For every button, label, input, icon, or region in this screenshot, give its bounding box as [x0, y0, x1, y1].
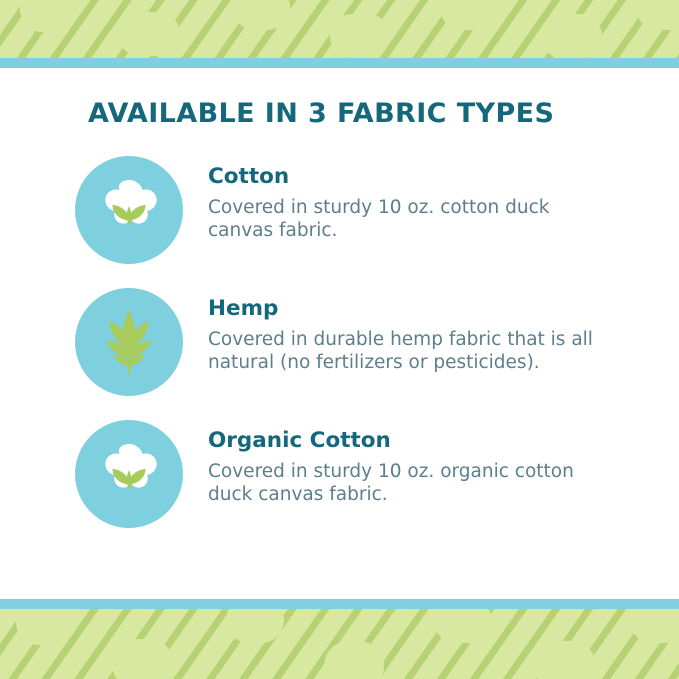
- text-container: Hemp Covered in durable hemp fabric that…: [188, 286, 630, 375]
- bottom-decorative-band: [0, 609, 679, 679]
- fabric-types-infographic: AVAILABLE IN 3 FABRIC TYPES Cotton: [0, 0, 679, 679]
- list-item: Cotton Covered in sturdy 10 oz. cotton d…: [70, 154, 630, 264]
- list-item: Hemp Covered in durable hemp fabric that…: [70, 286, 630, 396]
- item-title: Cotton: [208, 164, 630, 190]
- cotton-boll-icon: [75, 420, 183, 528]
- icon-container: [70, 154, 188, 264]
- bottom-accent-line: [0, 599, 679, 609]
- item-title: Organic Cotton: [208, 428, 630, 454]
- band-blob-overlay: [0, 609, 679, 679]
- band-blob-overlay: [0, 0, 679, 58]
- item-description: Covered in sturdy 10 oz. organic cotton …: [208, 460, 603, 507]
- icon-container: [70, 418, 188, 528]
- text-container: Cotton Covered in sturdy 10 oz. cotton d…: [188, 154, 630, 243]
- cotton-boll-icon: [75, 156, 183, 264]
- icon-container: [70, 286, 188, 396]
- top-decorative-band: [0, 0, 679, 58]
- top-accent-line: [0, 58, 679, 68]
- content-area: AVAILABLE IN 3 FABRIC TYPES Cotton: [0, 68, 679, 599]
- page-title: AVAILABLE IN 3 FABRIC TYPES: [88, 98, 554, 129]
- text-container: Organic Cotton Covered in sturdy 10 oz. …: [188, 418, 630, 507]
- item-description: Covered in durable hemp fabric that is a…: [208, 328, 603, 375]
- item-title: Hemp: [208, 296, 630, 322]
- fabric-list: Cotton Covered in sturdy 10 oz. cotton d…: [70, 154, 630, 550]
- item-description: Covered in sturdy 10 oz. cotton duck can…: [208, 196, 603, 243]
- hemp-leaf-icon: [75, 288, 183, 396]
- list-item: Organic Cotton Covered in sturdy 10 oz. …: [70, 418, 630, 528]
